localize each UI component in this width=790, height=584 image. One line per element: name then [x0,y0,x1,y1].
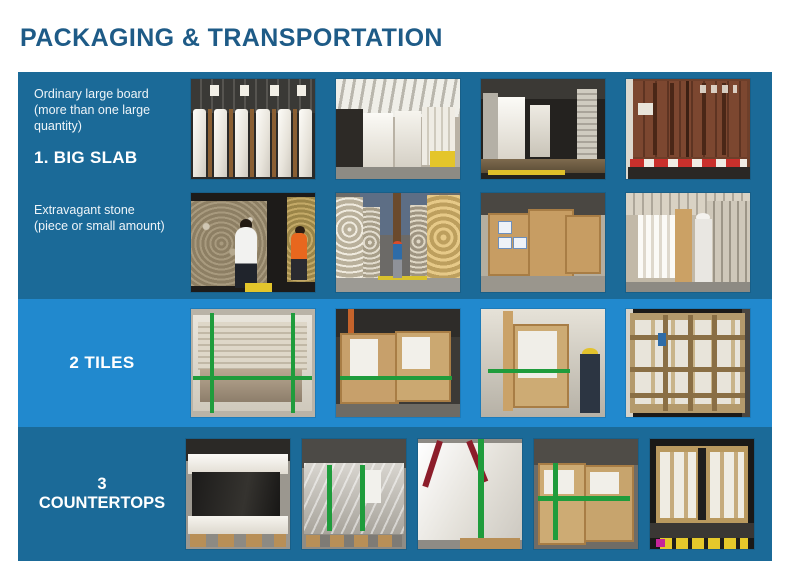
photo-cell[interactable] [644,434,760,554]
label-column-big-slab-bottom: Extravagant stone (piece or small amount… [18,186,180,299]
label-column-big-slab-top: Ordinary large board (more than one larg… [18,72,180,186]
grey-marble-countertops-photo[interactable] [302,439,406,549]
photo-cell[interactable] [325,306,470,420]
photo-cell[interactable] [180,434,296,554]
photo-cell[interactable] [470,79,615,179]
photo-cell[interactable] [470,193,615,292]
warehouse-slab-storage-photo[interactable] [336,79,460,179]
photo-cell[interactable] [615,306,760,420]
packaging-panel: Ordinary large board (more than one larg… [18,72,772,561]
white-slabs-warehouse-photo[interactable] [191,79,315,179]
tiles-heading: 2 TILES [34,353,170,373]
photo-cell[interactable] [615,79,760,179]
big-slab-note-bottom: Extravagant stone (piece or small amount… [34,202,170,234]
section-tiles: 2 TILES [18,299,772,427]
big-slab-heading: 1. BIG SLAB [34,148,170,168]
white-wrapped-bundle-photo[interactable] [418,439,522,549]
container-packed-tiles-photo[interactable] [626,309,750,417]
crate-loading-worker-photo[interactable] [481,309,605,417]
photo-strip-countertops [180,427,772,561]
label-column-tiles: 2 TILES [18,299,180,427]
container-loaded-countertops-photo[interactable] [650,439,754,549]
photo-cell[interactable] [528,434,644,554]
slab-bundle-aisle-photo[interactable] [336,193,460,292]
photo-cell[interactable] [180,193,325,292]
photo-strip-big-slab-2 [180,186,772,299]
photo-cell[interactable] [470,306,615,420]
section-countertops: 3 COUNTERTOPS [18,427,772,561]
photo-cell[interactable] [615,193,760,292]
big-slab-note-top: Ordinary large board (more than one larg… [34,86,170,134]
photo-cell[interactable] [180,306,325,420]
section-big-slab-row-2: Extravagant stone (piece or small amount… [18,186,772,299]
label-column-countertops: 3 COUNTERTOPS [18,427,180,561]
wooden-crate-bundles-photo[interactable] [481,193,605,292]
photo-cell[interactable] [296,434,412,554]
worker-loading-container-photo[interactable] [626,193,750,292]
photo-cell[interactable] [325,79,470,179]
tile-bundle-strapped-photo[interactable] [191,309,315,417]
photo-strip-tiles [180,299,772,427]
slabs-loaded-in-container-photo[interactable] [481,79,605,179]
section-big-slab-row-1: Ordinary large board (more than one larg… [18,72,772,186]
black-countertop-pallet-photo[interactable] [186,439,290,549]
page-title: PACKAGING & TRANSPORTATION [20,24,443,53]
countertops-heading: 3 COUNTERTOPS [34,475,170,513]
countertop-crate-stack-photo[interactable] [534,439,638,549]
photo-cell[interactable] [412,434,528,554]
slide-root: PACKAGING & TRANSPORTATION Ordinary larg… [0,0,790,584]
tile-pallet-crates-photo[interactable] [336,309,460,417]
workers-inspecting-granite-photo[interactable] [191,193,315,292]
brown-shipping-container-photo[interactable] [626,79,750,179]
photo-cell[interactable] [180,79,325,179]
photo-strip-big-slab-1 [180,72,772,186]
photo-cell[interactable] [325,193,470,292]
